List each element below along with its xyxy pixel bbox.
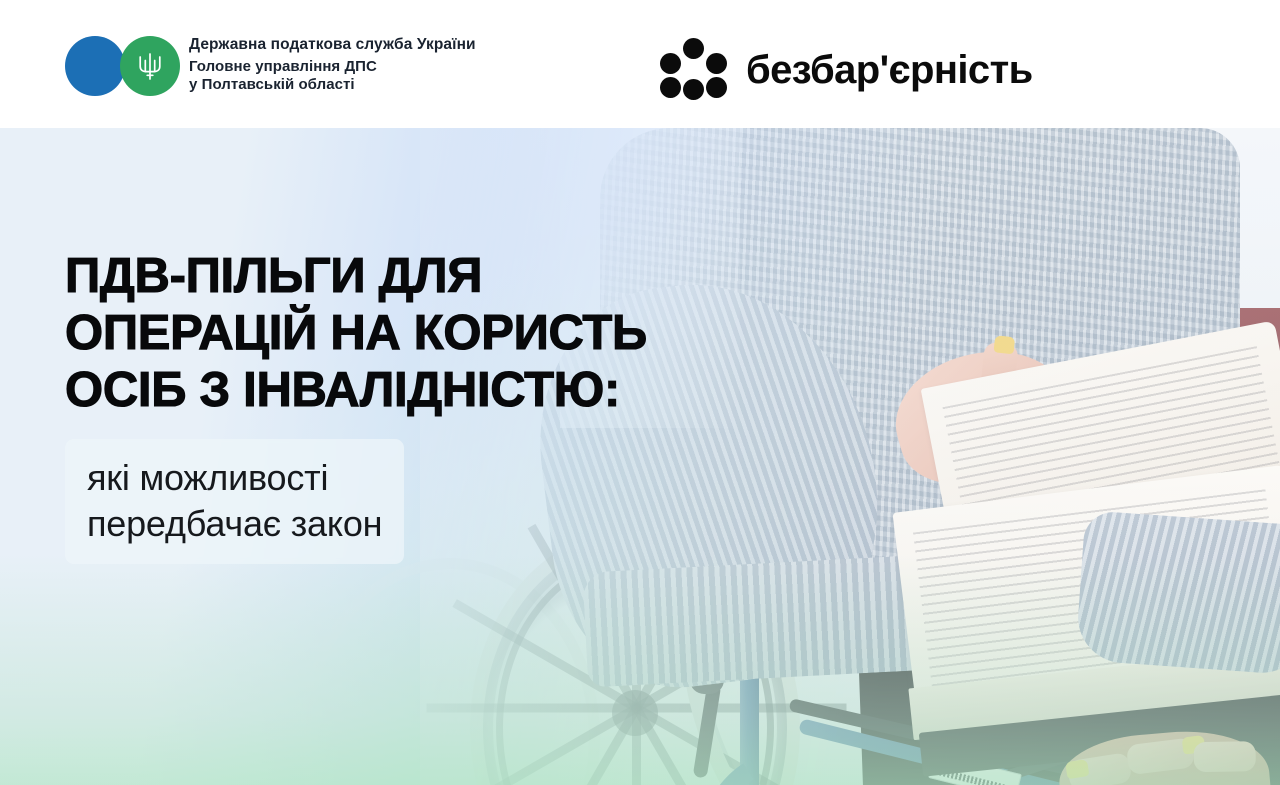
dps-logo: Державна податкова служба України Головн… bbox=[65, 33, 476, 97]
sweater-cuff-right bbox=[1075, 510, 1280, 676]
barrier-free-wordmark: безбар'єрність bbox=[746, 50, 1033, 90]
dps-logo-circles bbox=[65, 33, 183, 97]
blue-circle-icon bbox=[65, 36, 125, 96]
headline-line-2: ОПЕРАЦІЙ НА КОРИСТЬ bbox=[65, 305, 685, 362]
dps-title-line2: Головне управління ДПС bbox=[189, 58, 476, 77]
six-dots-ring-icon bbox=[660, 38, 728, 100]
wheel-spoke bbox=[427, 704, 637, 713]
header-bar: Державна податкова служба України Головн… bbox=[0, 0, 1280, 128]
subtitle-line-2: передбачає закон bbox=[87, 501, 382, 546]
headline-line-3: ОСІБ З ІНВАЛІДНІСТЮ: bbox=[65, 362, 685, 419]
poster-canvas: Державна податкова служба України Головн… bbox=[0, 0, 1280, 785]
subtitle-line-1: які можливості bbox=[87, 455, 382, 500]
dps-logo-text: Державна податкова служба України Головн… bbox=[189, 35, 476, 94]
headline-block: ПДВ-ПІЛЬГИ ДЛЯ ОПЕРАЦІЙ НА КОРИСТЬ ОСІБ … bbox=[65, 248, 685, 564]
headline-line-1: ПДВ-ПІЛЬГИ ДЛЯ bbox=[65, 248, 685, 305]
wheel-hub bbox=[612, 690, 658, 736]
subtitle-box: які можливості передбачає закон bbox=[65, 439, 404, 564]
page-title: ПДВ-ПІЛЬГИ ДЛЯ ОПЕРАЦІЙ НА КОРИСТЬ ОСІБ … bbox=[65, 248, 685, 418]
trident-icon bbox=[137, 50, 163, 82]
dps-title-line1: Державна податкова служба України bbox=[189, 35, 476, 54]
hero-stage: ПДВ-ПІЛЬГИ ДЛЯ ОПЕРАЦІЙ НА КОРИСТЬ ОСІБ … bbox=[0, 128, 1280, 785]
dps-title-line3: у Полтавській області bbox=[189, 76, 476, 95]
page-subtitle: які можливості передбачає закон bbox=[87, 455, 382, 546]
barrier-free-logo: безбар'єрність bbox=[660, 38, 1033, 100]
